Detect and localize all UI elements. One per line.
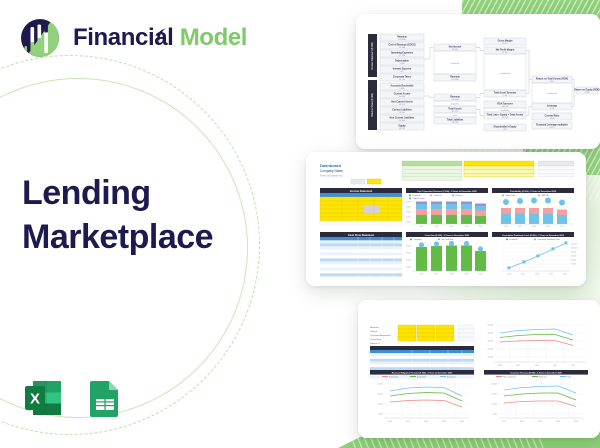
- svg-text:Cash flow ($ 000) - 5 Years to: Cash flow ($ 000) - 5 Years to December …: [425, 234, 470, 237]
- svg-text:Scenario A: Scenario A: [389, 376, 398, 379]
- svg-text:Income Statement: Income Statement: [350, 189, 372, 193]
- svg-text:50,000: 50,000: [406, 202, 411, 204]
- svg-text:2018: 2018: [538, 421, 542, 423]
- svg-text:Total Liab + Equity = Total As: Total Liab + Equity = Total Assets: [487, 113, 524, 116]
- preview-card-dupont-tree[interactable]: Income Statement ($ 000) Balance Sheet (…: [356, 14, 600, 149]
- svg-text:Non Current Assets: Non Current Assets: [391, 100, 413, 103]
- svg-text:Revenue: Revenue: [370, 327, 380, 329]
- svg-text:2016: 2016: [504, 226, 508, 228]
- svg-text:Scenario C: Scenario C: [447, 377, 457, 379]
- svg-text:33,133: 33,133: [399, 128, 406, 130]
- svg-text:52,088: 52,088: [399, 47, 406, 49]
- svg-text:60,000: 60,000: [571, 256, 576, 258]
- svg-text:2020: 2020: [560, 226, 564, 228]
- svg-text:2020: 2020: [479, 274, 483, 276]
- financial-model-circle-bars-logo-icon: [18, 16, 62, 60]
- svg-text:14.98: 14.98: [549, 118, 555, 120]
- svg-text:2016: 2016: [420, 274, 424, 276]
- svg-text:20,000: 20,000: [406, 260, 411, 262]
- svg-text:2019: 2019: [442, 421, 446, 423]
- svg-text:Cumulative Dividends Cash: Cumulative Dividends Cash: [538, 238, 560, 241]
- svg-text:Product C: Product C: [456, 194, 465, 197]
- svg-text:Income Statement ($ 000): Income Statement ($ 000): [371, 42, 374, 70]
- svg-text:Net Income: Net Income: [449, 45, 462, 48]
- svg-text:Revenue Mitigation Forecast ($: Revenue Mitigation Forecast ($ 000) - 5 …: [392, 372, 453, 375]
- svg-text:12,176: 12,176: [399, 79, 406, 81]
- financial-dashboard-thumbnail: Dashboard Company Name Financial Stateme…: [306, 152, 586, 286]
- brand-logo: Financial Model: [18, 16, 247, 60]
- svg-text:2016: 2016: [502, 421, 506, 423]
- svg-text:2017: 2017: [435, 226, 439, 228]
- svg-text:Product A: Product A: [413, 194, 422, 197]
- svg-text:Product B: Product B: [434, 194, 443, 197]
- svg-text:9,480: 9,480: [399, 88, 405, 90]
- svg-text:14,903: 14,903: [399, 112, 406, 114]
- svg-text:Corporate Taxes: Corporate Taxes: [393, 75, 412, 78]
- svg-text:2019: 2019: [465, 274, 469, 276]
- svg-text:Gross Profit: Gross Profit: [506, 194, 516, 197]
- svg-text:2019: 2019: [465, 226, 469, 228]
- svg-text:Gross Margin: Gross Margin: [498, 40, 513, 42]
- svg-text:Total Asset Turnover: Total Asset Turnover: [494, 91, 517, 94]
- svg-text:56.9%: 56.9%: [502, 43, 508, 45]
- svg-text:Total Liabilities: Total Liabilities: [447, 118, 464, 121]
- svg-text:2020: 2020: [571, 365, 575, 367]
- svg-text:40,000: 40,000: [492, 394, 498, 396]
- promo-banner: Financial Model Lending Marketplace X: [0, 0, 600, 448]
- svg-text:120,800: 120,800: [398, 39, 406, 41]
- svg-text:Scenario B: Scenario B: [417, 377, 427, 379]
- svg-text:Return on Total Assets (ROA): Return on Total Assets (ROA): [536, 77, 568, 80]
- svg-text:Financial Statements: Financial Statements: [320, 175, 343, 178]
- svg-text:2016: 2016: [420, 226, 424, 228]
- svg-text:2020: 2020: [479, 226, 483, 228]
- svg-text:divided by: divided by: [451, 104, 460, 106]
- svg-text:Current Assets: Current Assets: [394, 92, 411, 95]
- svg-text:multiplied by: multiplied by: [547, 92, 558, 95]
- page-title: Lending Marketplace: [22, 172, 272, 259]
- svg-text:2017: 2017: [406, 421, 410, 423]
- svg-text:10,336: 10,336: [399, 120, 406, 122]
- svg-text:2020: 2020: [460, 421, 464, 423]
- svg-text:2020: 2020: [563, 274, 567, 276]
- svg-text:38,212: 38,212: [399, 104, 406, 106]
- svg-text:40,000: 40,000: [406, 246, 411, 248]
- svg-text:96.01: 96.01: [584, 92, 590, 94]
- svg-text:Interest Expense: Interest Expense: [393, 67, 412, 70]
- svg-text:New Customers: New Customers: [503, 376, 516, 379]
- svg-text:Leverage: Leverage: [547, 105, 558, 107]
- svg-text:2019: 2019: [553, 365, 557, 367]
- svg-text:2018: 2018: [535, 274, 539, 276]
- svg-text:Revenue: Revenue: [450, 76, 460, 78]
- svg-text:Revenue: Revenue: [450, 96, 460, 98]
- svg-text:2017: 2017: [518, 226, 522, 228]
- file-format-icons: X: [22, 377, 126, 419]
- svg-text:2018: 2018: [450, 274, 454, 276]
- svg-text:120,000: 120,000: [571, 244, 577, 246]
- svg-text:10,000: 10,000: [406, 222, 411, 224]
- svg-text:X: X: [30, 391, 40, 408]
- svg-text:2019: 2019: [546, 226, 550, 228]
- svg-text:60,000: 60,000: [492, 384, 498, 386]
- svg-text:Customer Acquisition: Customer Acquisition: [370, 334, 391, 337]
- svg-text:Current Liabilities: Current Liabilities: [392, 108, 412, 111]
- svg-text:17,758: 17,758: [399, 55, 406, 57]
- svg-text:Return on Equity (ROE): Return on Equity (ROE): [574, 88, 600, 91]
- svg-text:Total: Total: [567, 376, 571, 379]
- svg-text:30,000: 30,000: [406, 253, 411, 255]
- svg-text:Retained: Retained: [539, 376, 546, 379]
- svg-text:Profitability ($ 000) - 5 Year: Profitability ($ 000) - 5 Years to Decem…: [510, 190, 557, 193]
- svg-text:2016: 2016: [498, 365, 502, 367]
- svg-text:Other Revenue: Other Revenue: [413, 197, 425, 200]
- svg-text:40,000: 40,000: [378, 394, 384, 396]
- svg-text:Equity: Equity: [398, 124, 406, 127]
- svg-text:2018: 2018: [450, 226, 454, 228]
- svg-text:2020: 2020: [574, 421, 578, 423]
- svg-text:2017: 2017: [521, 274, 525, 276]
- svg-text:2018: 2018: [424, 421, 428, 423]
- svg-text:EBITDA: EBITDA: [542, 194, 549, 197]
- svg-text:20,000: 20,000: [492, 404, 498, 406]
- svg-text:2017: 2017: [516, 365, 520, 367]
- forecast-charts-thumbnail: RevenueGrowth Customer AcquisitionChurn …: [358, 300, 600, 438]
- svg-text:63.22: 63.22: [549, 127, 555, 129]
- svg-text:divided by: divided by: [501, 110, 510, 112]
- svg-text:Operating: Operating: [414, 238, 422, 241]
- brand-name-secondary: Model: [180, 24, 247, 51]
- svg-text:10,000: 10,000: [406, 267, 411, 269]
- svg-text:Company Name: Company Name: [320, 169, 343, 173]
- svg-text:Total Assets: Total Assets: [448, 107, 462, 110]
- svg-text:Financial Leverage multiplier: Financial Leverage multiplier: [536, 123, 568, 126]
- svg-text:10,000: 10,000: [488, 357, 494, 359]
- microsoft-excel-icon[interactable]: X: [22, 377, 64, 419]
- svg-text:Dashboard: Dashboard: [320, 163, 341, 168]
- svg-text:Top 5 Operative Revenue ($ 000: Top 5 Operative Revenue ($ 000) - 5 Year…: [417, 190, 477, 193]
- preview-card-forecast-charts[interactable]: RevenueGrowth Customer AcquisitionChurn …: [358, 300, 600, 438]
- svg-text:Net Profit Margin: Net Profit Margin: [496, 48, 515, 51]
- svg-text:40,000: 40,000: [571, 260, 576, 262]
- svg-text:Cumulative Dividends Cash ($ 0: Cumulative Dividends Cash ($ 000) - 5 Ye…: [502, 234, 565, 237]
- svg-text:Accounts Receivable: Accounts Receivable: [390, 84, 414, 87]
- svg-text:20,000: 20,000: [378, 404, 384, 406]
- dupont-tree-thumbnail: Income Statement ($ 000) Balance Sheet (…: [356, 14, 600, 149]
- svg-text:Operating Expenses: Operating Expenses: [391, 51, 414, 54]
- svg-text:30,000: 30,000: [488, 341, 494, 343]
- svg-text:Net Cash Flow: Net Cash Flow: [442, 238, 454, 241]
- svg-text:Cash Flow Statement: Cash Flow Statement: [348, 233, 374, 237]
- svg-text:20,000: 20,000: [488, 349, 494, 351]
- svg-text:30,000: 30,000: [406, 212, 411, 214]
- svg-text:Interest %: Interest %: [370, 342, 380, 345]
- svg-text:80,000: 80,000: [571, 252, 576, 254]
- svg-text:5,000: 5,000: [379, 414, 384, 416]
- svg-text:2019: 2019: [556, 421, 560, 423]
- svg-text:60,000: 60,000: [378, 384, 384, 386]
- svg-text:20,000: 20,000: [571, 264, 576, 266]
- svg-text:2016: 2016: [507, 274, 511, 276]
- svg-text:Non Current Liabilities: Non Current Liabilities: [390, 116, 415, 119]
- leaf-accent-icon: [156, 28, 167, 41]
- svg-text:Cost of Revenue (COGS): Cost of Revenue (COGS): [388, 43, 415, 46]
- svg-text:ROA Turnover: ROA Turnover: [497, 102, 513, 105]
- svg-text:plus: plus: [453, 115, 457, 117]
- svg-text:100,000: 100,000: [571, 248, 577, 250]
- svg-text:2017: 2017: [435, 274, 439, 276]
- svg-text:24,060: 24,060: [399, 96, 406, 98]
- svg-text:Depreciation: Depreciation: [395, 59, 410, 62]
- svg-text:5,000: 5,000: [493, 414, 498, 416]
- svg-text:Dividends: Dividends: [510, 239, 518, 241]
- svg-text:50,000: 50,000: [488, 325, 494, 327]
- preview-card-financial-dashboard[interactable]: Dashboard Company Name Financial Stateme…: [306, 152, 586, 286]
- svg-text:2017: 2017: [520, 421, 524, 423]
- svg-text:Churn Rate: Churn Rate: [370, 338, 382, 341]
- svg-text:Shareholder's Equity: Shareholder's Equity: [494, 125, 518, 128]
- page-title-line-2: Marketplace: [22, 216, 272, 260]
- svg-text:62,272: 62,272: [502, 117, 509, 119]
- svg-text:2018: 2018: [532, 226, 536, 228]
- svg-text:2019: 2019: [549, 274, 553, 276]
- svg-text:multiplied by: multiplied by: [500, 72, 511, 75]
- svg-text:1,380: 1,380: [399, 63, 405, 65]
- svg-text:2016: 2016: [388, 421, 392, 423]
- svg-text:Customer Forecast ($ 000) - 5: Customer Forecast ($ 000) - 5 Years to D…: [510, 372, 562, 375]
- google-sheets-icon[interactable]: [84, 377, 126, 419]
- svg-text:Revenue: Revenue: [397, 36, 407, 38]
- svg-text:120,800: 120,800: [451, 79, 459, 81]
- svg-text:divided by: divided by: [451, 63, 460, 65]
- svg-text:25,239: 25,239: [452, 122, 459, 124]
- svg-text:Growth: Growth: [370, 330, 378, 333]
- svg-text:Current Ratio: Current Ratio: [545, 114, 560, 117]
- svg-text:40,000: 40,000: [406, 207, 411, 209]
- svg-text:Balance Sheet ($ 000): Balance Sheet ($ 000): [371, 93, 374, 117]
- page-title-line-1: Lending: [22, 172, 272, 216]
- svg-text:20,000: 20,000: [406, 217, 411, 219]
- svg-text:2018: 2018: [535, 365, 539, 367]
- svg-text:40,000: 40,000: [488, 333, 494, 335]
